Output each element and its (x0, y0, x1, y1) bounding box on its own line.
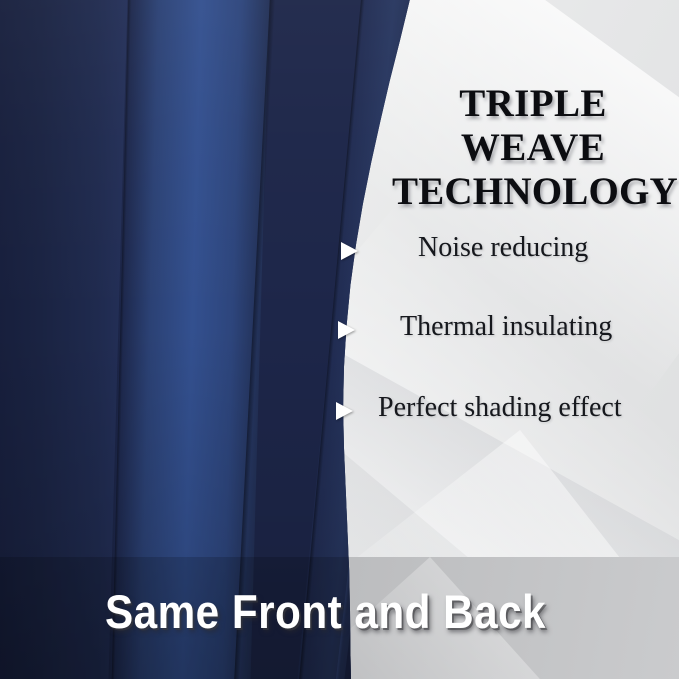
feature-label: Perfect shading effect (378, 392, 622, 424)
banner-headline: Same Front and Back (33, 587, 619, 637)
feature-list: Noise reducing Thermal insulating Perfec… (330, 228, 675, 474)
headline-line-2: TECHNOLOGY (392, 170, 674, 214)
feature-label: Thermal insulating (400, 311, 612, 343)
feature-label: Noise reducing (418, 232, 588, 264)
feature-item: Thermal insulating (330, 310, 675, 392)
triangle-right-icon (341, 242, 358, 260)
product-marketing-image: TRIPLE WEAVE TECHNOLOGY Noise reducing T… (0, 0, 679, 679)
feature-item: Noise reducing (330, 228, 675, 310)
headline: TRIPLE WEAVE TECHNOLOGY (392, 82, 674, 214)
feature-item: Perfect shading effect (330, 392, 675, 474)
triangle-right-icon (336, 402, 353, 420)
triangle-right-icon (338, 321, 355, 339)
headline-line-1: TRIPLE WEAVE (392, 82, 674, 170)
